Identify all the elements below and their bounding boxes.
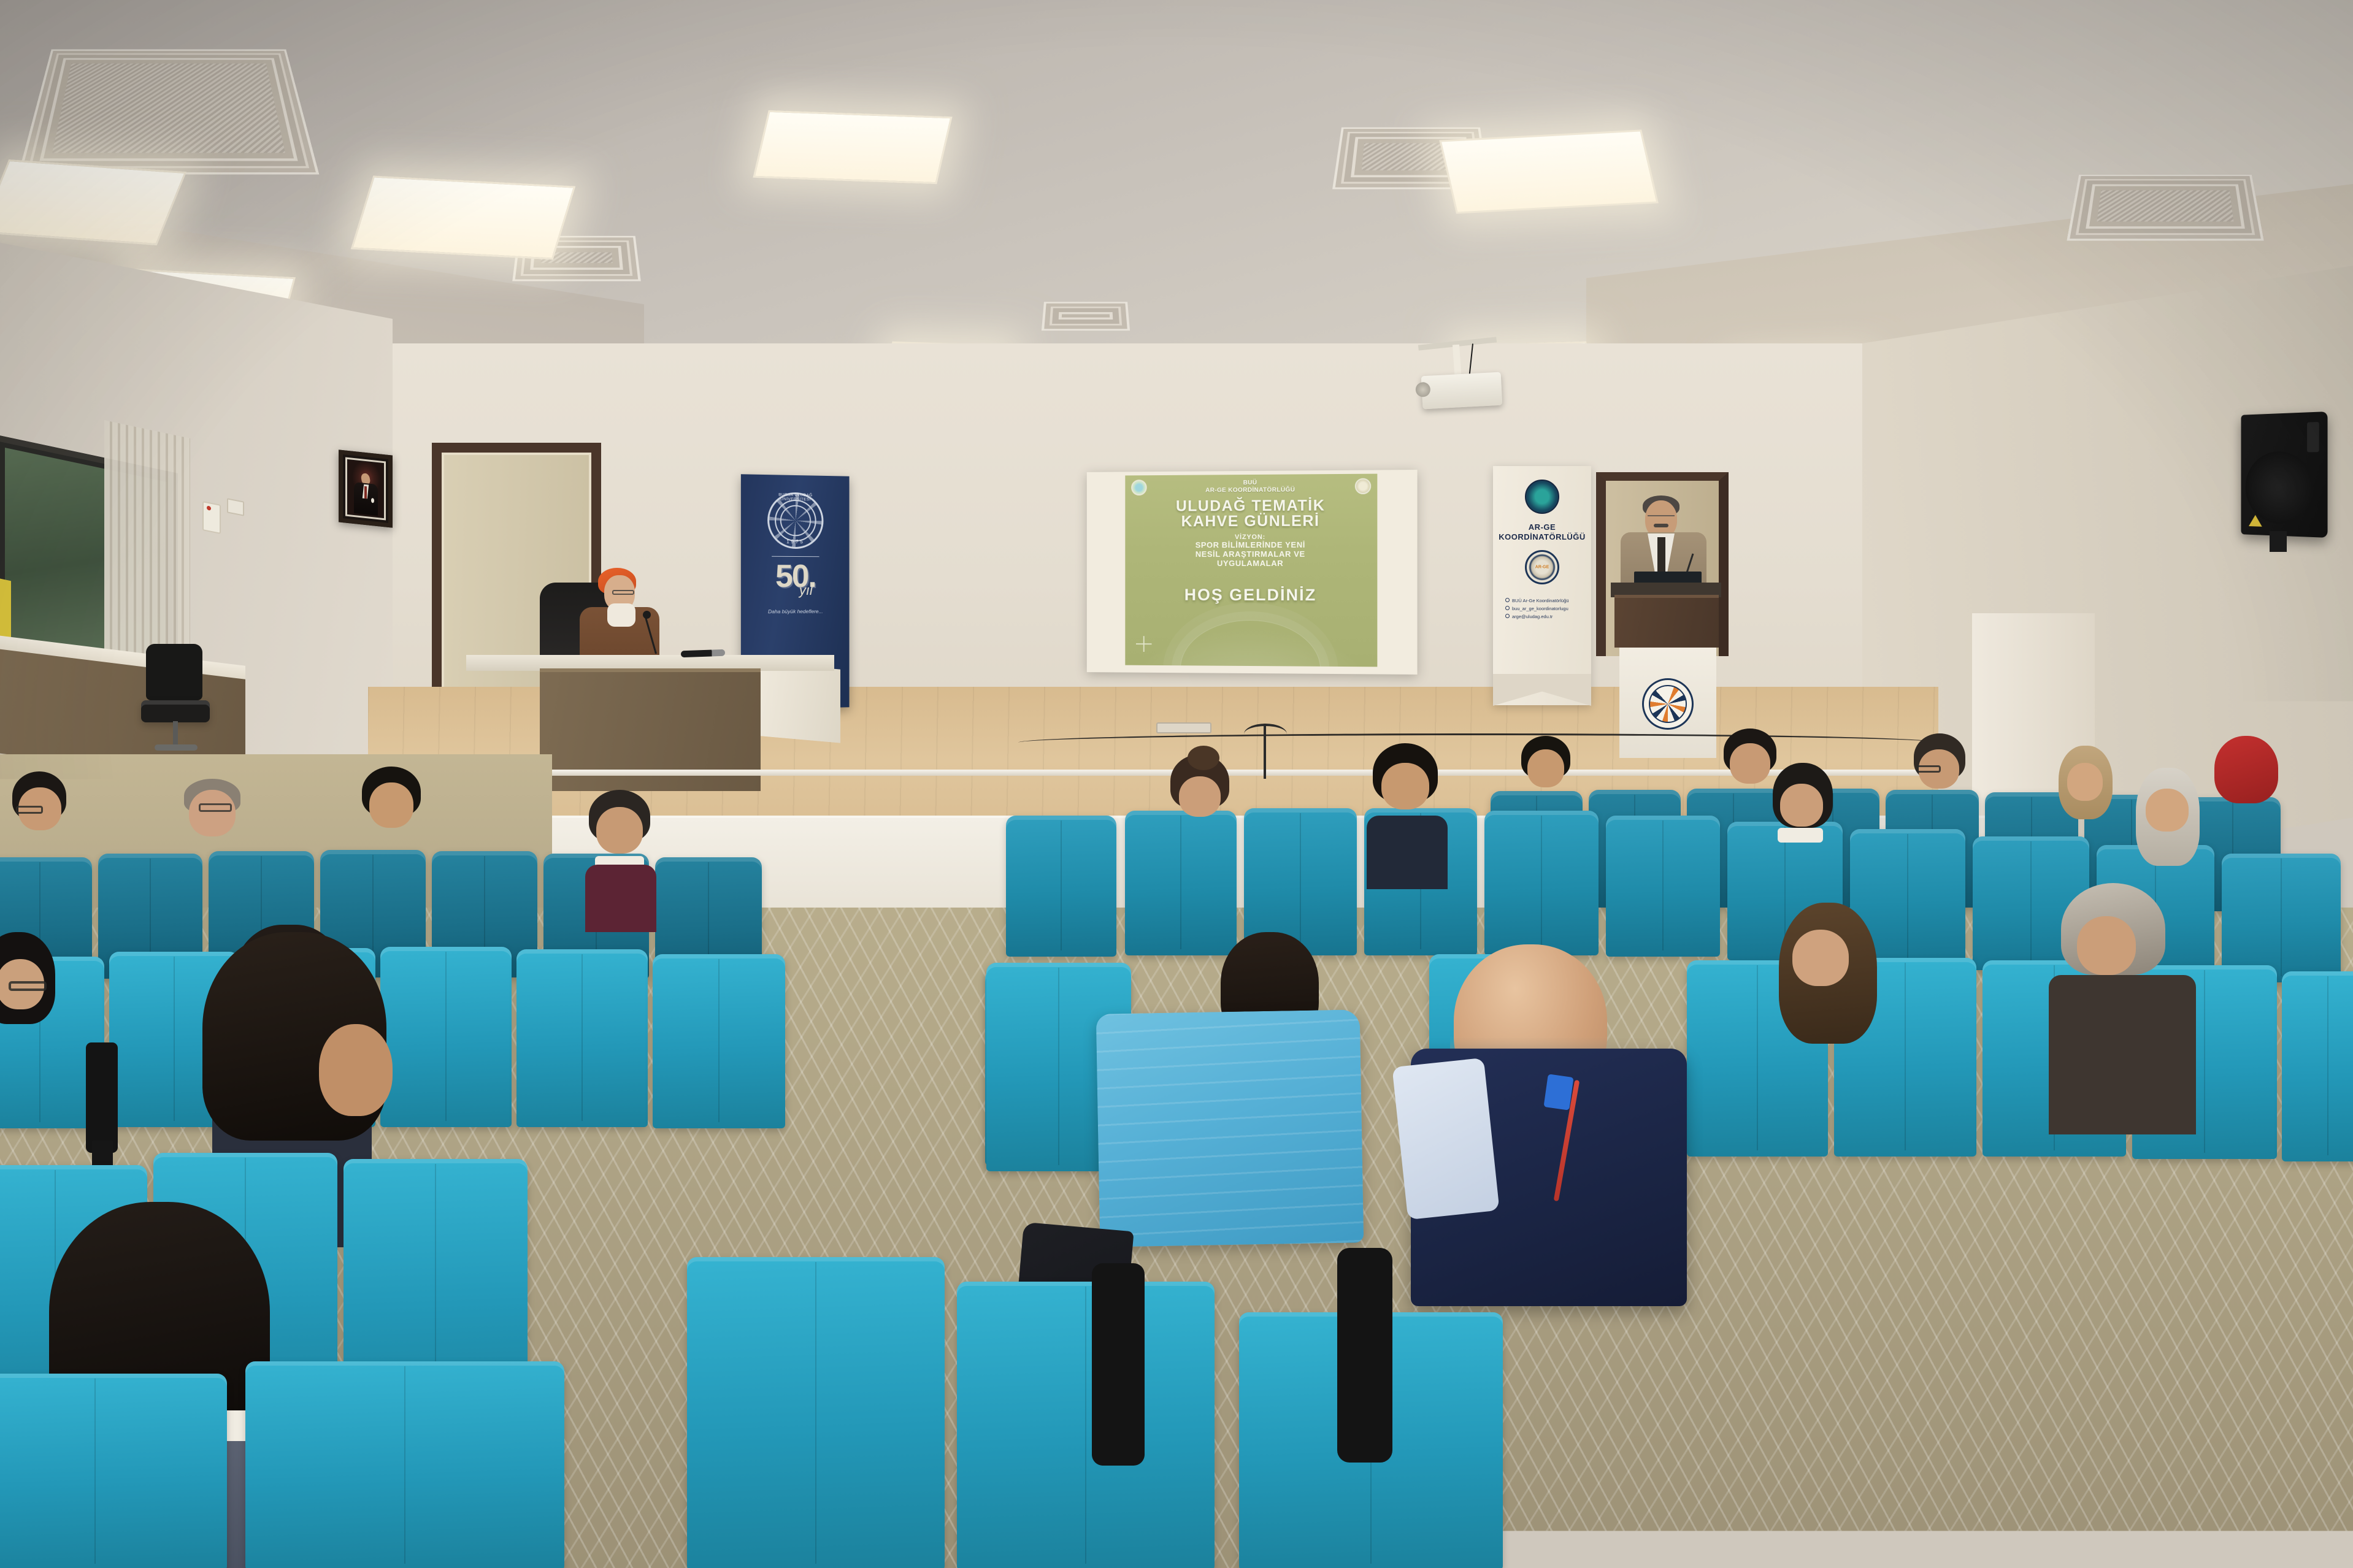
instagram-icon — [1505, 606, 1510, 610]
jacket-white-panel — [1392, 1058, 1499, 1220]
banner-divider — [772, 556, 819, 557]
draped-light-blue-jacket[interactable] — [1096, 1009, 1364, 1247]
university-seal-icon: BURSA ULUDAĞ ÜNİVERSİTESİ 1975 — [767, 492, 823, 549]
hvac-vent-icon — [2067, 175, 2263, 241]
projection-screen: BUÜ AR-GE KOORDİNATÖRLÜĞÜ ULUDAĞ TEMATİK… — [1087, 470, 1418, 675]
auditorium-seat[interactable] — [380, 947, 512, 1127]
slide-subtitle-line1: SPOR BİLİMLERİNDE YENİ — [1125, 541, 1377, 551]
speaker-horn — [2307, 422, 2319, 452]
speaker-bracket — [2270, 531, 2287, 552]
slide-header-line2: AR-GE KOORDİNATÖRLÜĞÜ — [1125, 486, 1377, 494]
speaker-brand-logo-icon — [2249, 514, 2262, 526]
arge-logo-icon: AR-GE — [1525, 550, 1559, 584]
slide-subtitle-line2: NESİL ARAŞTIRMALAR VE — [1125, 550, 1377, 559]
speaker-moustache — [1654, 524, 1668, 527]
speaker-tie — [1657, 537, 1665, 575]
ceiling-projector — [1421, 372, 1503, 410]
slide-welcome-text: HOŞ GELDİNİZ — [1125, 586, 1377, 605]
light-switch-panel[interactable] — [202, 501, 221, 534]
speaker-cone — [2246, 451, 2313, 524]
floor-cable — [1018, 733, 1938, 752]
office-chair[interactable] — [141, 644, 209, 760]
olive-bag[interactable] — [1448, 1404, 1754, 1568]
auditorium-seat[interactable] — [2282, 971, 2353, 1161]
slide-title-line1: ULUDAĞ TEMATİK — [1125, 498, 1377, 514]
hvac-vent-icon — [1042, 302, 1130, 331]
banner-notch — [1493, 674, 1591, 706]
auditorium-seat[interactable] — [653, 954, 785, 1128]
ataturk-portrait — [339, 449, 393, 527]
wall-rail-trim — [344, 770, 1938, 776]
table-microphone-head — [643, 611, 651, 619]
slide-arc-decoration — [1180, 620, 1321, 667]
lectern-area — [1607, 478, 1724, 773]
arge-department-banner: AR-GE KOORDİNATÖRLÜĞÜ AR-GE BUÜ Ar-Ge Ko… — [1493, 466, 1591, 705]
auditorium-seat[interactable] — [687, 1257, 945, 1568]
faculty-seal-icon — [1642, 678, 1694, 730]
university-logo-icon — [1525, 480, 1559, 514]
auditorium-seat[interactable] — [957, 1282, 1215, 1568]
ceiling-light-panel — [1439, 129, 1659, 213]
stage-mic-stand — [1264, 724, 1266, 779]
seat-armrest — [1337, 1248, 1392, 1463]
contact-email: arge@uludag.edu.tr — [1512, 614, 1553, 619]
auditorium-photo: BUÜ AR-GE KOORDİNATÖRLÜĞÜ ULUDAĞ TEMATİK… — [0, 0, 2353, 1568]
slide-subtitle-line3: UYGULAMALAR — [1125, 559, 1377, 568]
moderator-glasses — [612, 590, 634, 595]
head-table-right-wing — [761, 662, 840, 743]
auditorium-seat[interactable] — [245, 1361, 564, 1568]
auditorium-seat[interactable] — [516, 949, 648, 1127]
seat-armrest — [1092, 1263, 1145, 1466]
banner-seal-year: 1975 — [769, 539, 821, 545]
seat-armrest — [86, 1042, 118, 1153]
bag-strap — [1472, 1388, 1613, 1431]
wall-socket-strip[interactable] — [1156, 722, 1211, 733]
moderator-scarf — [607, 603, 635, 627]
ceiling-light-panel — [351, 175, 576, 259]
sparkle-icon — [1136, 636, 1152, 652]
slide-logo-right-icon — [1355, 478, 1371, 494]
arge-banner-title-line2: KOORDİNATÖRLÜĞÜ — [1493, 532, 1591, 542]
ceiling-light-panel — [0, 159, 186, 245]
auditorium-seat[interactable] — [0, 1374, 227, 1568]
arge-logo-label: AR-GE — [1535, 565, 1549, 570]
auditorium-seat[interactable] — [1006, 816, 1116, 957]
wall-pa-speaker — [2241, 411, 2327, 538]
speaker-glasses — [1648, 515, 1675, 521]
hvac-vent-icon — [18, 50, 320, 175]
banner-seal-text: BURSA ULUDAĞ ÜNİVERSİTESİ — [769, 492, 821, 502]
contact-instagram: buu_ar_ge_koordinatorlugu — [1512, 606, 1568, 611]
auditorium-seat[interactable] — [2222, 854, 2341, 982]
lectern-body — [1614, 595, 1719, 648]
auditorium-seat[interactable] — [1484, 811, 1599, 955]
jacket-blue-tab — [1543, 1074, 1573, 1110]
presentation-slide: BUÜ AR-GE KOORDİNATÖRLÜĞÜ ULUDAĞ TEMATİK… — [1125, 474, 1377, 667]
auditorium-seat[interactable] — [1606, 816, 1720, 957]
auditorium-seat[interactable] — [1125, 811, 1237, 955]
banner-tagline: Daha büyük hedeflere... — [741, 608, 850, 614]
slide-logo-left-icon — [1131, 480, 1147, 495]
arge-banner-title-line1: AR-GE — [1493, 522, 1591, 532]
facebook-icon — [1505, 598, 1510, 602]
auditorium-seat[interactable] — [2141, 1202, 2353, 1568]
ceiling-light-panel — [753, 110, 952, 184]
email-icon — [1505, 614, 1510, 618]
slide-title-line2: KAHVE GÜNLERİ — [1125, 513, 1377, 529]
projector-lens-icon — [1415, 382, 1430, 397]
contact-facebook: BUÜ Ar-Ge Koordinatörlüğü — [1512, 598, 1569, 603]
